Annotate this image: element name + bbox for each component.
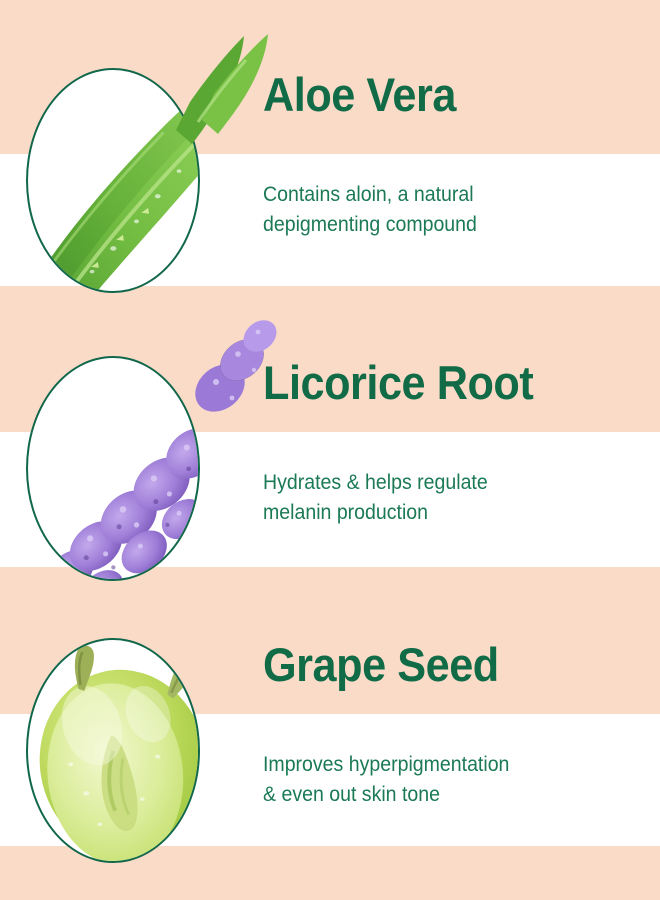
ingredients-infographic: Aloe Vera Contains aloin, a natural depi… xyxy=(0,0,660,900)
oval-photo-frame xyxy=(26,638,200,863)
ingredient-section-grape-seed: Grape Seed Improves hyperpigmentation & … xyxy=(0,570,660,870)
description-line: Improves hyperpigmentation xyxy=(263,750,570,780)
licorice-root-flower-photo xyxy=(26,356,200,581)
ingredient-description: Improves hyperpigmentation & even out sk… xyxy=(263,750,570,810)
description-line: melanin production xyxy=(263,498,570,528)
ingredient-title: Aloe Vera xyxy=(263,68,456,122)
grape-seed-fruit-photo xyxy=(26,638,200,863)
ingredient-image-frame xyxy=(26,638,200,863)
ingredient-section-licorice-root: Licorice Root Hydrates & helps regulate … xyxy=(0,288,660,588)
ingredient-description: Contains aloin, a natural depigmenting c… xyxy=(263,180,570,240)
oval-photo-frame xyxy=(26,68,200,293)
ingredient-image-frame xyxy=(26,356,200,581)
description-line: & even out skin tone xyxy=(263,780,570,810)
description-line: Hydrates & helps regulate xyxy=(263,468,570,498)
description-line: depigmenting compound xyxy=(263,210,570,240)
description-line: Contains aloin, a natural xyxy=(263,180,570,210)
ingredient-title: Grape Seed xyxy=(263,638,499,692)
aloe-vera-leaves-photo xyxy=(26,68,200,293)
oval-photo-frame xyxy=(26,356,200,581)
ingredient-section-aloe-vera: Aloe Vera Contains aloin, a natural depi… xyxy=(0,0,660,300)
ingredient-description: Hydrates & helps regulate melanin produc… xyxy=(263,468,570,528)
ingredient-title: Licorice Root xyxy=(263,356,533,410)
ingredient-image-frame xyxy=(26,68,200,293)
